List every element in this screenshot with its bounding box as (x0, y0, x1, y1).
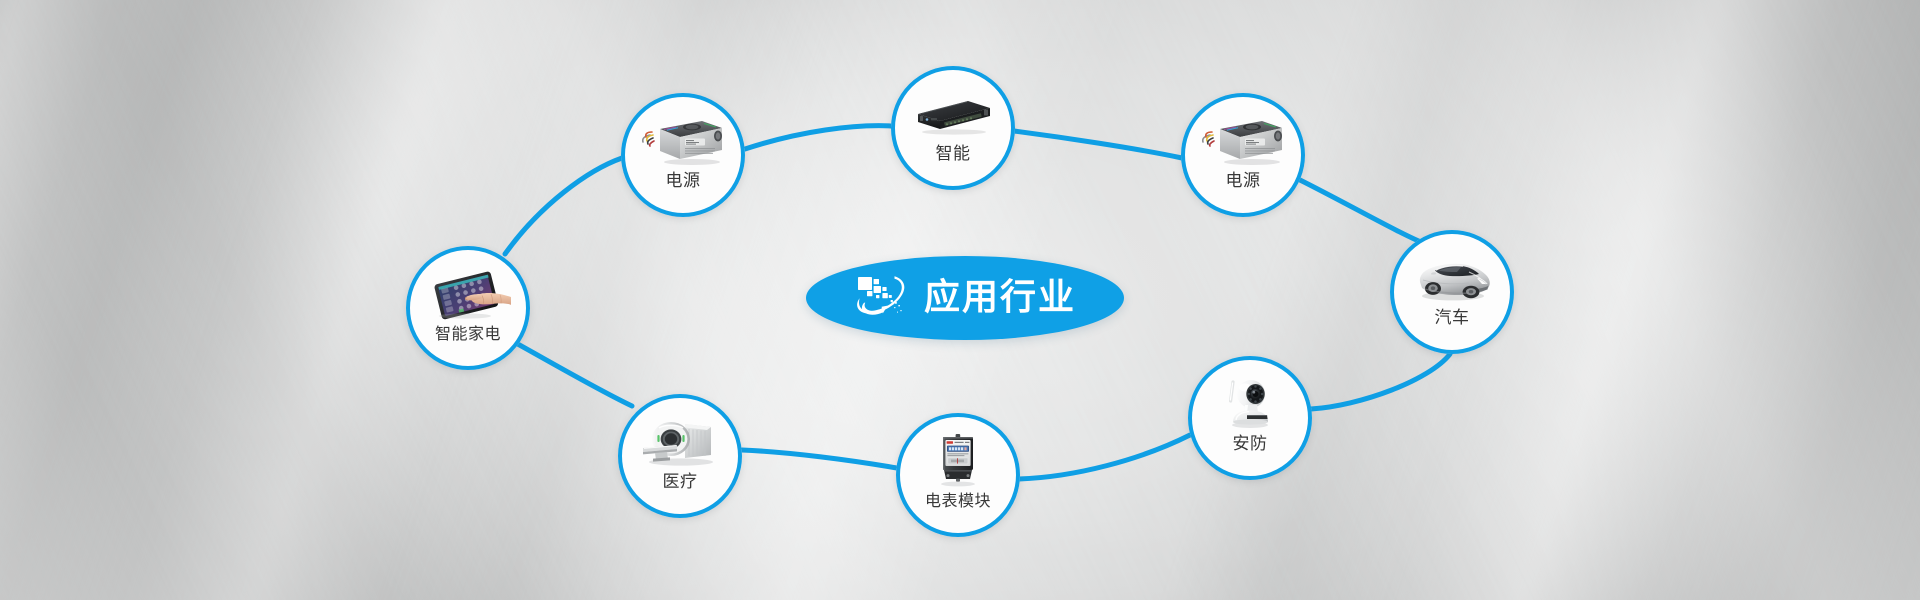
node-automotive[interactable]: 汽车 (1390, 230, 1514, 354)
node-label: 电源 (666, 173, 701, 191)
link-smart-to-powerright (1014, 131, 1182, 158)
atx-power-supply-icon (640, 110, 726, 172)
electric-meter-icon (915, 430, 1001, 492)
application-industry-diagram: 电源 (0, 0, 1920, 600)
orbit-pixel-swoosh-logo (854, 272, 910, 324)
tablet-touch-hand-icon (425, 263, 511, 325)
node-label: 安防 (1233, 436, 1268, 454)
node-smart[interactable]: 智能 (891, 66, 1015, 190)
node-label: 智能 (936, 146, 971, 164)
center-badge-label: 应用行业 (924, 280, 1076, 316)
link-smarthome-to-powerleft (505, 158, 622, 254)
link-powerright-to-car (1300, 180, 1428, 245)
link-meter-to-medical (742, 450, 897, 468)
node-power-supply-left[interactable]: 电源 (621, 93, 745, 217)
node-security[interactable]: 安防 (1188, 356, 1312, 480)
center-badge[interactable]: 应用行业 (806, 256, 1124, 340)
node-label: 电源 (1226, 173, 1261, 191)
link-car-to-security (1311, 354, 1450, 409)
ip-security-camera-icon (1207, 373, 1293, 435)
atx-power-supply-icon (1200, 110, 1286, 172)
link-security-to-meter (1019, 435, 1190, 479)
node-smart-home-appliance[interactable]: 智能家电 (406, 246, 530, 370)
mri-ct-scanner-icon (637, 411, 723, 473)
link-powerleft-to-smart (745, 126, 892, 149)
node-label: 智能家电 (435, 326, 501, 343)
rack-server-icon (910, 83, 996, 145)
node-medical[interactable]: 医疗 (618, 394, 742, 518)
node-power-supply-right[interactable]: 电源 (1181, 93, 1305, 217)
node-label: 汽车 (1435, 310, 1470, 328)
node-label: 电表模块 (925, 493, 991, 510)
sports-car-icon (1409, 247, 1495, 309)
node-meter-module[interactable]: 电表模块 (896, 413, 1020, 537)
node-label: 医疗 (663, 474, 698, 492)
